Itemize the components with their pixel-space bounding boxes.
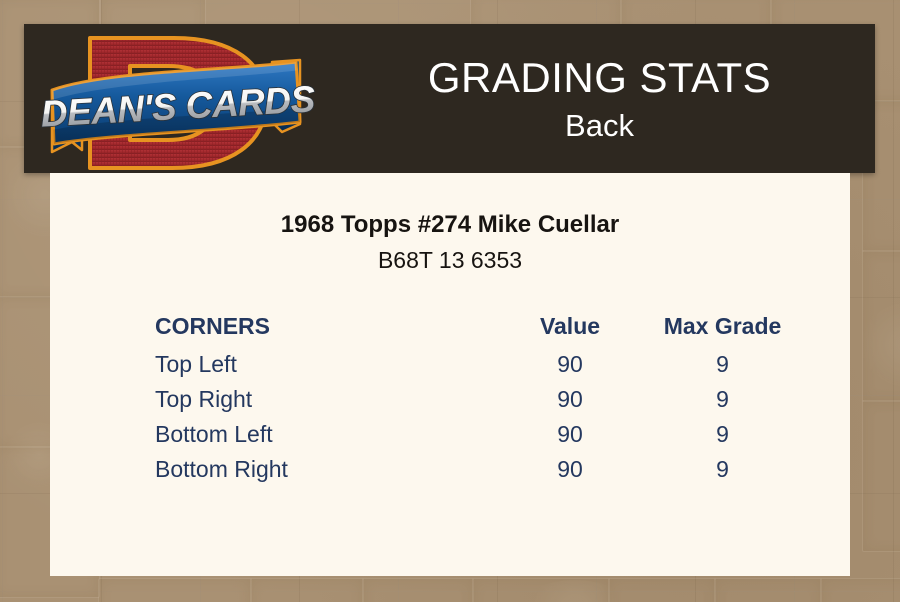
page-subtitle: Back [565, 107, 634, 145]
background-card-ghost [862, 400, 900, 552]
background-card-ghost [608, 578, 716, 602]
row-value: 90 [495, 347, 645, 382]
table-row: Top Right 90 9 [155, 382, 800, 417]
row-max-grade: 9 [645, 347, 800, 382]
column-header-value: Value [495, 309, 645, 347]
row-max-grade: 9 [645, 382, 800, 417]
background-card-ghost [862, 250, 900, 402]
table-header-row: CORNERS Value Max Grade [155, 309, 800, 347]
row-value: 90 [495, 452, 645, 487]
row-value: 90 [495, 417, 645, 452]
row-label: Bottom Left [155, 417, 495, 452]
table-row: Bottom Left 90 9 [155, 417, 800, 452]
column-header-max-grade: Max Grade [645, 309, 800, 347]
row-label: Top Left [155, 347, 495, 382]
header-title-block: GRADING STATS Back [324, 24, 875, 173]
card-code: B68T 13 6353 [50, 246, 850, 275]
row-label: Bottom Right [155, 452, 495, 487]
row-value: 90 [495, 382, 645, 417]
background-card-ghost [250, 578, 364, 602]
content-panel: 1968 Topps #274 Mike Cuellar B68T 13 635… [50, 173, 850, 576]
header-bar: DEAN'S CARDS GRADING STATS Back [24, 24, 875, 173]
table-row: Top Left 90 9 [155, 347, 800, 382]
background-card-ghost [98, 578, 252, 602]
page-root: DEAN'S CARDS GRADING STATS Back 1968 Top… [0, 0, 900, 602]
grading-stats-table: CORNERS Value Max Grade Top Left 90 9 To… [155, 309, 800, 487]
card-title: 1968 Topps #274 Mike Cuellar [50, 210, 850, 240]
table-row: Bottom Right 90 9 [155, 452, 800, 487]
background-ghost-blob [860, 300, 900, 390]
background-card-ghost [472, 578, 610, 602]
row-label: Top Right [155, 382, 495, 417]
background-card-ghost [714, 578, 822, 602]
page-title: GRADING STATS [428, 53, 771, 103]
deans-cards-logo[interactable]: DEAN'S CARDS [38, 26, 318, 172]
row-max-grade: 9 [645, 417, 800, 452]
row-max-grade: 9 [645, 452, 800, 487]
column-header-corners: CORNERS [155, 309, 495, 347]
background-card-ghost [362, 578, 474, 602]
background-ghost-blob [520, 580, 630, 602]
background-card-ghost [820, 578, 900, 602]
